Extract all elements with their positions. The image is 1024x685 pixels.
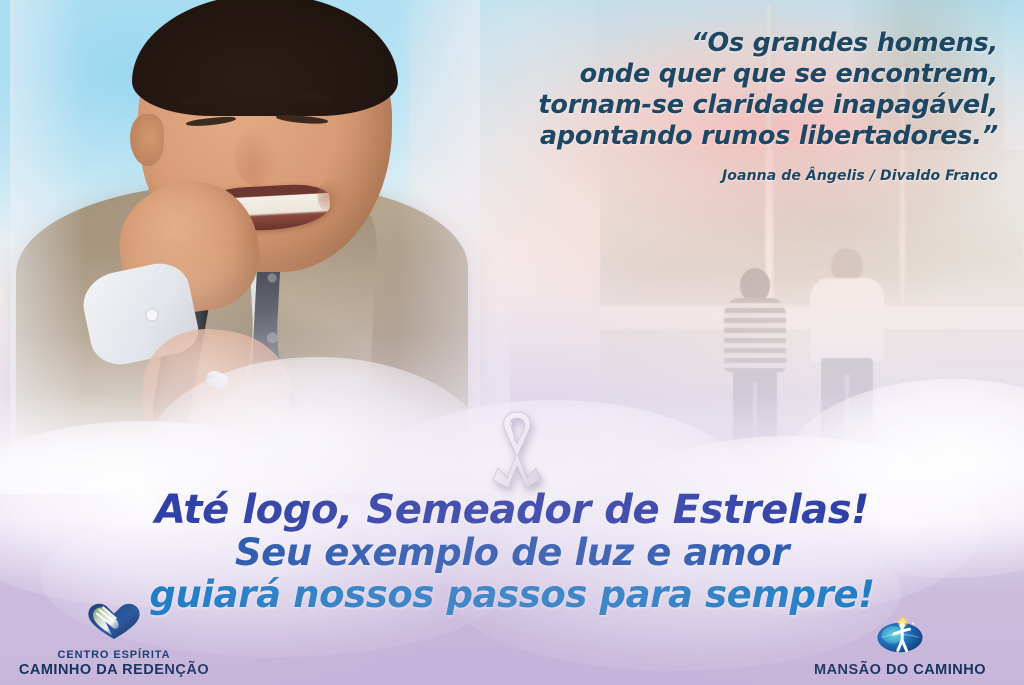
headline-line-1: Até logo, Semeador de Estrelas!: [0, 488, 1024, 532]
portrait-smiling-man-with-microphone: [10, 0, 480, 464]
quote-line-2: onde quer que se encontrem,: [438, 59, 998, 90]
headline-block: Até logo, Semeador de Estrelas! Seu exem…: [0, 488, 1024, 616]
portrait-ear: [130, 114, 164, 166]
heart-hands-icon: [14, 599, 214, 646]
logo-right-line-1: MANSÃO DO CAMINHO: [790, 662, 1010, 679]
scene-fade-overlay: [600, 150, 1024, 470]
headline-line-2: Seu exemplo de luz e amor: [0, 532, 1024, 574]
logo-mansao-do-caminho: MANSÃO DO CAMINHO: [790, 614, 1010, 679]
white-awareness-ribbon-icon: [489, 406, 545, 488]
memorial-poster: “Os grandes homens, onde quer que se enc…: [0, 0, 1024, 685]
portrait-nose: [234, 124, 278, 186]
globe-figure-light-icon: [790, 614, 1010, 659]
quote-line-4: apontando rumos libertadores.”: [438, 121, 998, 152]
portrait-hair: [132, 0, 398, 116]
logo-centro-espirita: CENTRO ESPÍRITA CAMINHO DA REDENÇÃO: [14, 599, 214, 679]
quote-attribution: Joanna de Ângelis / Divaldo Franco: [438, 168, 998, 184]
logo-left-line-2: CAMINHO DA REDENÇÃO: [14, 662, 214, 679]
faded-photo-two-people-walking: [600, 150, 1024, 470]
quote-block: “Os grandes homens, onde quer que se enc…: [438, 28, 998, 184]
logo-left-line-1: CENTRO ESPÍRITA: [14, 649, 214, 662]
quote-line-3: tornam-se claridade inapagável,: [438, 90, 998, 121]
quote-line-1: “Os grandes homens,: [438, 28, 998, 59]
